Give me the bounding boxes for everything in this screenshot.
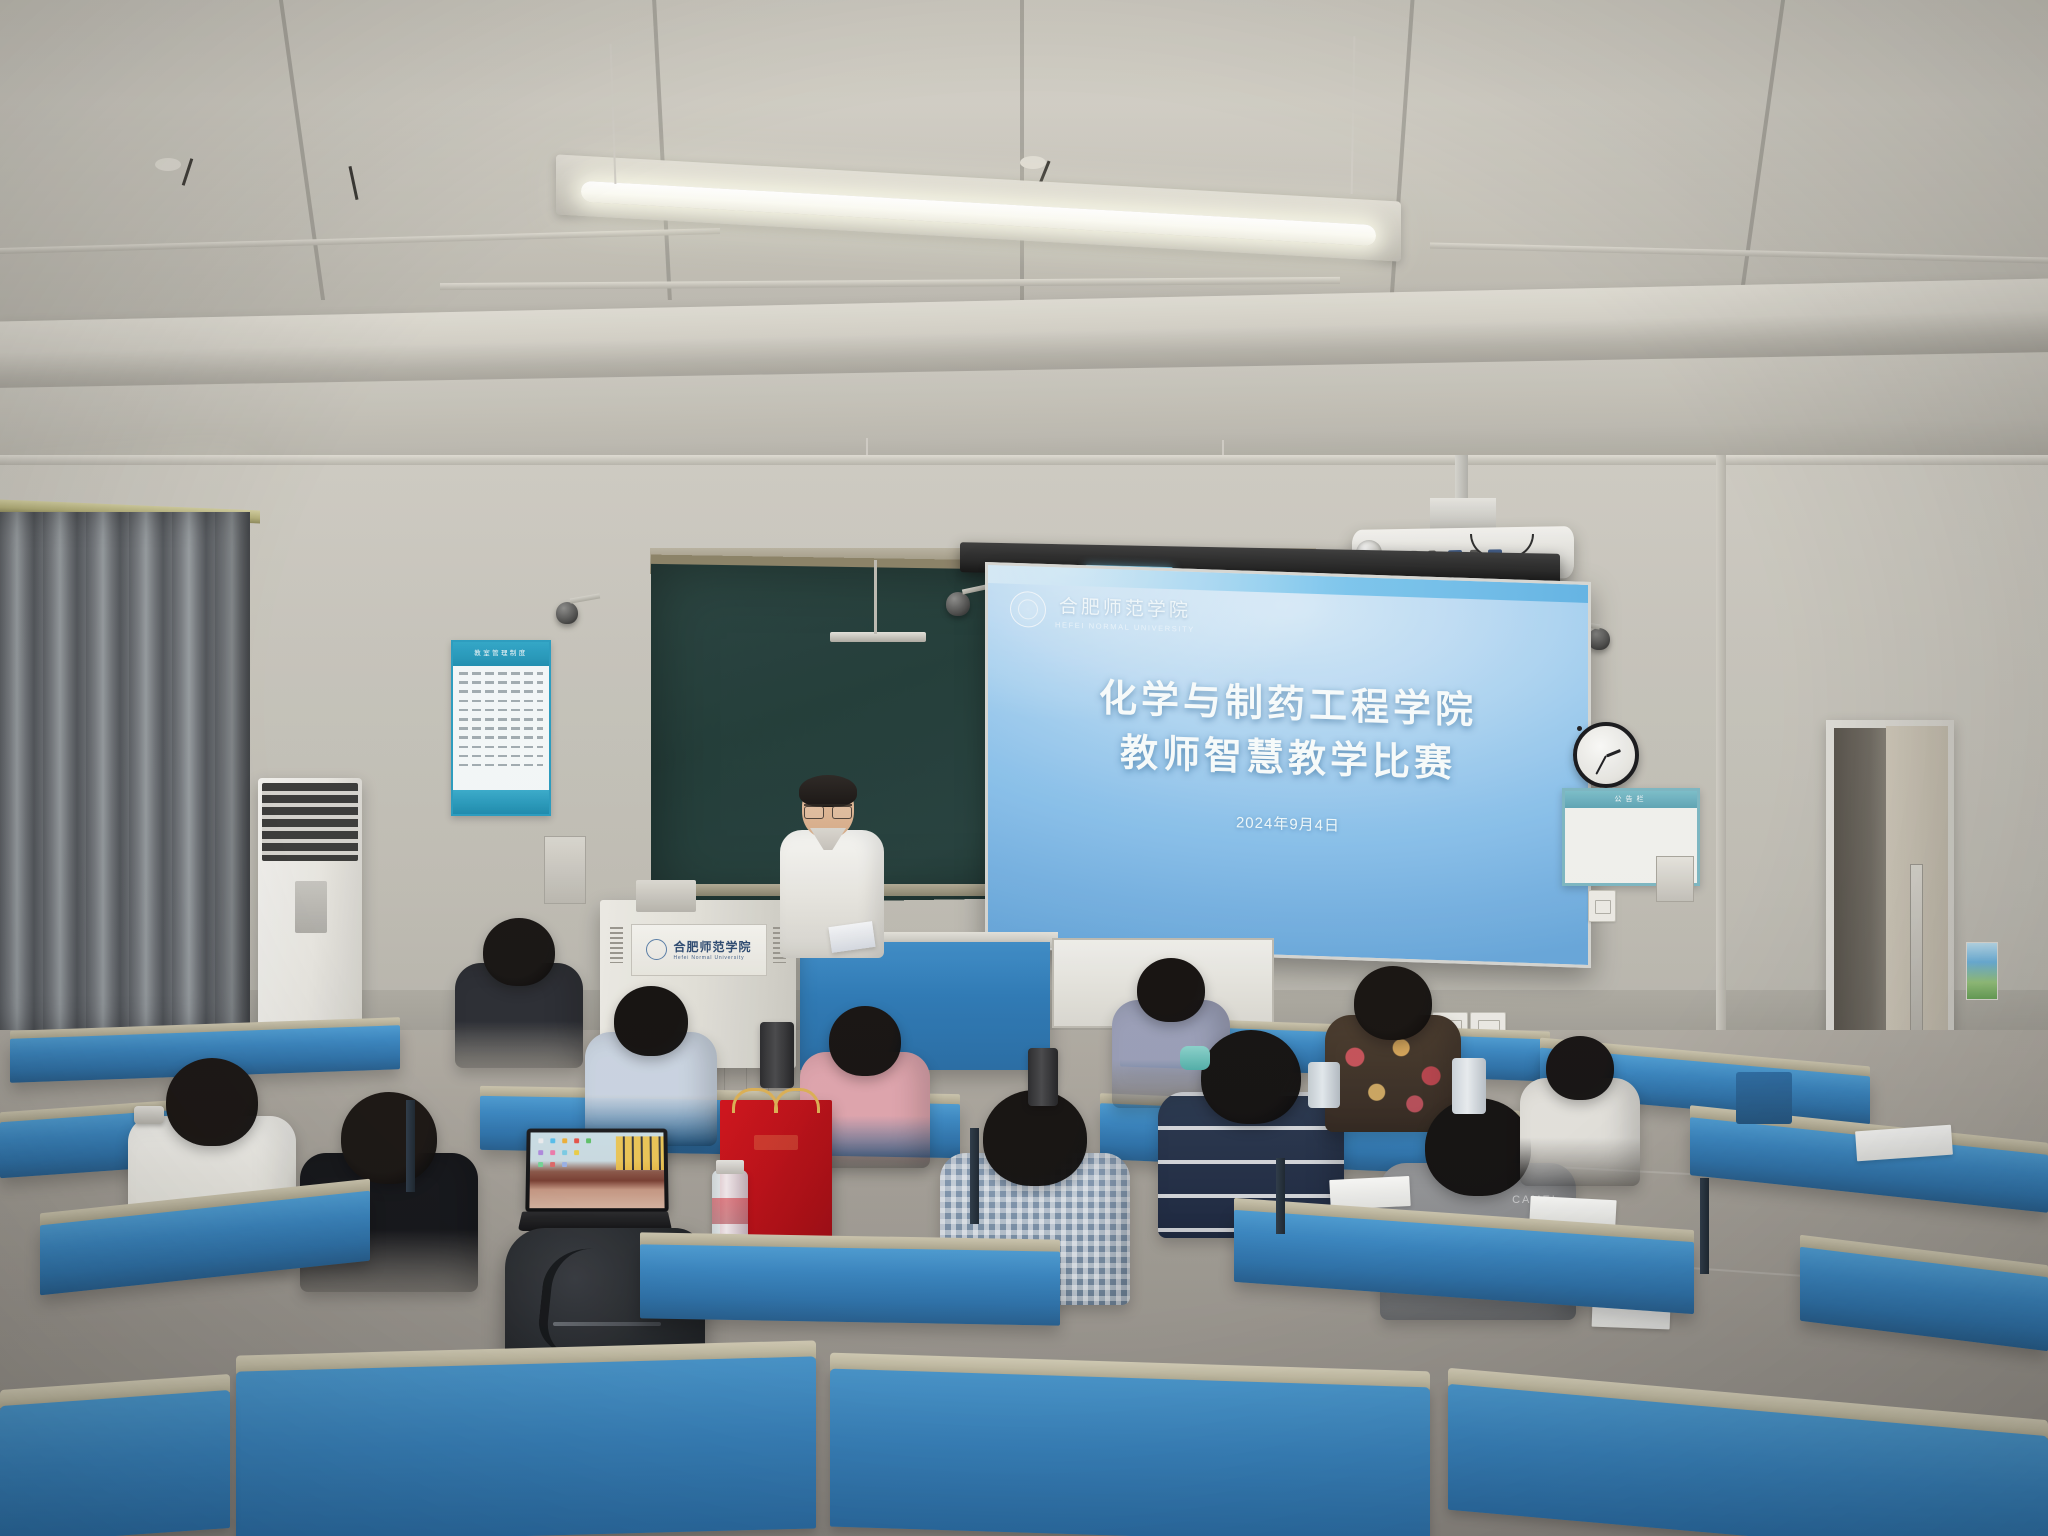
audience-head [1201, 1030, 1301, 1124]
audience-head [1137, 958, 1205, 1022]
bottle-cap [716, 1160, 744, 1174]
classroom-photo: 教室管理制度 [0, 0, 2048, 1536]
desk-leg [1700, 1178, 1709, 1274]
desk-leg [970, 1128, 979, 1224]
thermos-tumbler [1028, 1048, 1058, 1106]
audience-member [455, 918, 583, 1068]
laptop-lid [525, 1129, 668, 1213]
laptop-screen [529, 1132, 664, 1208]
audience-head [1354, 966, 1432, 1040]
audience-head [1546, 1036, 1614, 1100]
backpack-zipper [553, 1322, 661, 1326]
audience-head [166, 1058, 258, 1146]
trash-bin [1736, 1072, 1792, 1124]
desk-leg [1276, 1158, 1285, 1234]
seat-back[interactable] [0, 1390, 230, 1536]
gift-bag-logo [754, 1135, 799, 1150]
thermos-tumbler [760, 1022, 794, 1088]
seat-back[interactable] [830, 1369, 1430, 1536]
desk-leg [406, 1100, 415, 1192]
bottle-label [712, 1198, 748, 1224]
desk-row [640, 1244, 1060, 1325]
seat-back[interactable] [236, 1356, 816, 1536]
glass-cup [1452, 1058, 1486, 1114]
glass-cup [1308, 1062, 1340, 1108]
audience-member [585, 986, 717, 1146]
laptop[interactable] [520, 1128, 670, 1236]
audience-head [829, 1006, 901, 1076]
hair-clip-icon [134, 1106, 164, 1124]
audience-head [614, 986, 688, 1056]
audience-head [341, 1092, 437, 1184]
green-cup-lid [1180, 1046, 1210, 1070]
audience-head [483, 918, 555, 986]
audience-member [1520, 1036, 1640, 1186]
